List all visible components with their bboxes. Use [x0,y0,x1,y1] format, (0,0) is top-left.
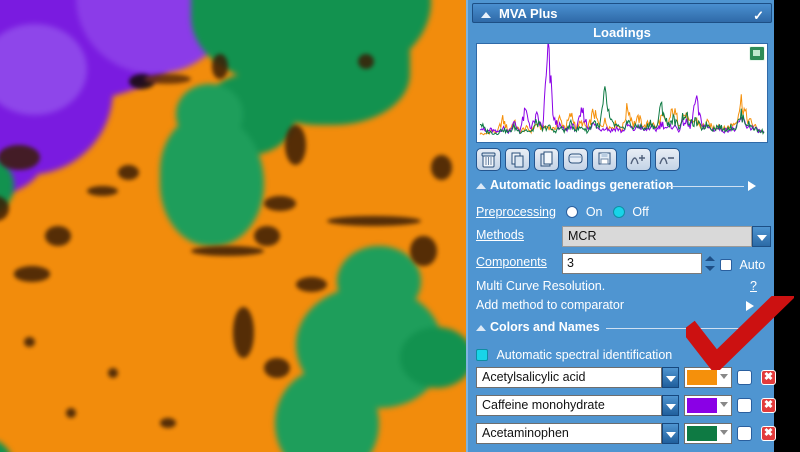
chevron-down-icon[interactable] [720,402,728,407]
components-input[interactable]: 3 [562,253,702,274]
row-checkbox[interactable] [737,398,752,413]
chart-series-2 [480,44,764,134]
compound-name: Acetaminophen [482,426,569,440]
loadings-heading: Loadings [468,25,776,40]
automatic-loadings-section-header[interactable]: Automatic loadings generation [476,178,768,194]
chart-series-3 [480,86,764,134]
methods-label[interactable]: Methods [476,228,524,242]
delete-row-button[interactable]: ✖ [761,398,776,413]
components-label[interactable]: Components [476,255,547,269]
arrow-right-icon[interactable] [746,301,754,311]
compound-name-select[interactable]: Acetylsalicylic acid [476,367,662,388]
chevron-down-icon[interactable] [662,423,679,444]
preprocessing-off-radio[interactable] [613,206,625,218]
delete-row-button[interactable]: ✖ [761,370,776,385]
components-value: 3 [567,256,574,270]
color-swatch [687,426,717,441]
automatic-spectral-identification-checkbox[interactable] [476,349,488,361]
triangle-up-icon[interactable] [476,325,486,331]
arrow-right-icon[interactable] [748,181,756,191]
chemical-distribution-map[interactable] [0,0,466,452]
mva-plus-panel: MVA Plus ✓ Loadings [466,0,774,452]
color-swatch-select[interactable] [684,367,732,388]
preprocessing-row: Preprocessing On Off [476,203,649,221]
row-checkbox[interactable] [737,426,752,441]
color-swatch-select[interactable] [684,423,732,444]
methods-select[interactable]: MCR [562,226,752,247]
compound-name: Acetylsalicylic acid [482,370,586,384]
compound-name-select[interactable]: Caffeine monohydrate [476,395,662,416]
preprocessing-label[interactable]: Preprocessing [476,205,556,219]
components-stepper[interactable] [704,253,716,274]
stepper-down-icon[interactable] [705,266,715,271]
map-grain-boundaries [0,0,466,452]
chevron-down-icon[interactable] [720,374,728,379]
checkmark-icon[interactable]: ✓ [753,6,764,26]
row-checkbox[interactable] [737,370,752,385]
preprocessing-off-label: Off [632,205,648,219]
compound-name: Caffeine monohydrate [482,398,605,412]
chevron-down-icon[interactable] [720,430,728,435]
panel-title: MVA Plus [499,6,558,21]
loadings-chart[interactable] [476,43,768,143]
triangle-up-icon[interactable] [476,183,486,189]
chevron-down-icon[interactable] [752,226,771,247]
auto-checkbox-row: Auto [720,256,765,274]
color-swatch [687,398,717,413]
help-link[interactable]: ? [750,279,757,293]
panel-title-bar[interactable]: MVA Plus ✓ [472,3,772,23]
rounded-rect-icon[interactable] [563,148,588,171]
methods-value: MCR [568,229,596,243]
save-icon[interactable] [592,148,617,171]
section-rule [666,186,744,187]
colors-and-names-section-header[interactable]: Colors and Names [476,320,768,336]
paste-icon[interactable] [534,148,559,171]
compound-name-select[interactable]: Acetaminophen [476,423,662,444]
app-screenshot: MVA Plus ✓ Loadings [0,0,800,452]
automatic-spectral-identification-label: Automatic spectral identification [496,348,672,362]
color-swatch-select[interactable] [684,395,732,416]
automatic-loadings-heading: Automatic loadings generation [490,178,673,192]
color-swatch [687,370,717,385]
loadings-chart-svg [477,44,767,142]
delete-row-button[interactable]: ✖ [761,426,776,441]
preprocessing-on-radio[interactable] [566,206,578,218]
copy-icon[interactable] [505,148,530,171]
method-description: Multi Curve Resolution. [476,279,605,293]
table-row: Acetylsalicylic acid ✖ [476,367,768,388]
preprocessing-on-label: On [586,205,603,219]
maximize-icon[interactable] [749,46,765,61]
chevron-down-icon[interactable] [662,367,679,388]
auto-checkbox[interactable] [720,259,732,271]
chevron-down-icon[interactable] [662,395,679,416]
table-row: Caffeine monohydrate ✖ [476,395,768,416]
delete-icon[interactable] [476,148,501,171]
section-rule [606,328,756,329]
peak-remove-icon[interactable] [655,148,680,171]
triangle-up-icon[interactable] [481,12,491,18]
stepper-up-icon[interactable] [705,256,715,261]
add-to-comparator-label[interactable]: Add method to comparator [476,298,624,312]
automatic-spectral-identification-row[interactable]: Automatic spectral identification [476,346,672,364]
peak-add-icon[interactable] [626,148,651,171]
table-row: Acetaminophen ✖ [476,423,768,444]
loadings-toolbar [476,148,768,172]
auto-label: Auto [739,258,765,272]
colors-and-names-heading: Colors and Names [490,320,600,334]
